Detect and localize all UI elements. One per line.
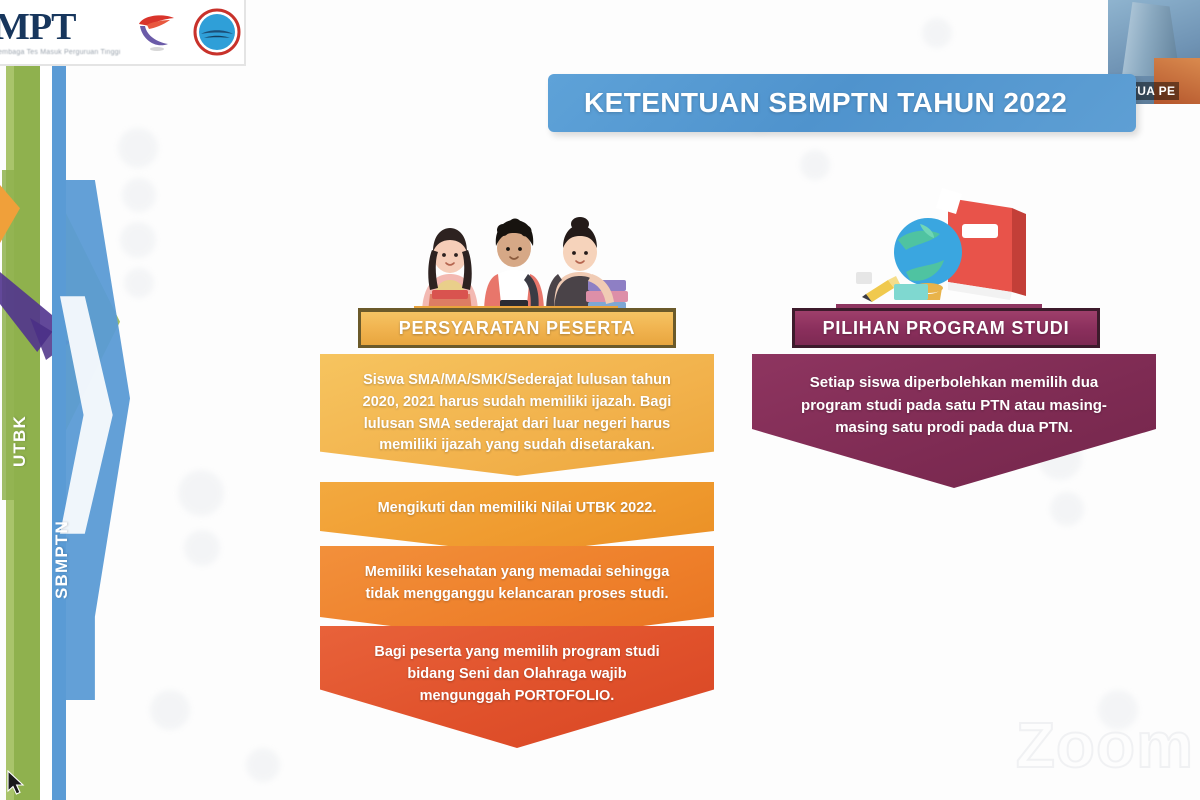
requirement-block-4: Bagi peserta yang memilih program studi … [320, 626, 714, 748]
background-watermark-blob [184, 530, 220, 566]
books-globe-illustration [836, 180, 1042, 316]
requirement-block-1: Siswa SMA/MA/SMK/Sederajat lulusan tahun… [320, 354, 714, 476]
requirement-block-2-text: Mengikuti dan memiliki Nilai UTBK 2022. [320, 482, 714, 520]
section-header-label: PERSYARATAN PESERTA [399, 318, 636, 339]
ltmpt-logo-text: MPT [0, 8, 121, 46]
background-watermark-blob [178, 470, 224, 516]
background-watermark-blob [1050, 492, 1084, 526]
requirement-block-2: Mengikuti dan memiliki Nilai UTBK 2022. [320, 482, 714, 554]
requirement-block-4-text: Bagi peserta yang memilih program studi … [320, 626, 714, 707]
page-title: KETENTUAN SBMPTN TAHUN 2022 [584, 87, 1067, 119]
students-illustration [392, 162, 636, 314]
background-watermark-blob [1098, 690, 1138, 730]
requirement-block-1-text: Siswa SMA/MA/SMK/Sederajat lulusan tahun… [320, 354, 714, 457]
left-decorative-rail: UTBK SBMPTN [0, 0, 130, 800]
slide-title-bar: KETENTUAN SBMPTN TAHUN 2022 [548, 74, 1136, 132]
section-header-persyaratan-peserta: PERSYARATAN PESERTA [358, 308, 676, 348]
mouse-cursor-icon [6, 770, 28, 796]
slide-canvas: UTBK SBMPTN MPT Lembaga Tes Masuk Pergur… [0, 0, 1200, 800]
zoom-watermark: Zoom [1016, 708, 1194, 782]
program-choice-block-1-text: Setiap siswa diperbolehkan memilih dua p… [752, 354, 1156, 440]
program-choice-block-1: Setiap siswa diperbolehkan memilih dua p… [752, 354, 1156, 488]
rail-white-gap [40, 0, 52, 800]
background-watermark-blob [800, 150, 830, 180]
background-watermark-blob [922, 18, 952, 48]
ltmpt-wordmark: MPT Lembaga Tes Masuk Perguruan Tinggi [0, 8, 121, 56]
requirement-block-3-text: Memiliki kesehatan yang memadai sehingga… [320, 546, 714, 606]
ltmpt-logo-subtitle: Lembaga Tes Masuk Perguruan Tinggi [0, 49, 121, 56]
section-header-label: PILIHAN PROGRAM STUDI [823, 318, 1070, 339]
kemdikbud-emblem-icon [193, 8, 241, 56]
background-watermark-blob [246, 748, 280, 782]
section-header-pilihan-program-studi: PILIHAN PROGRAM STUDI [792, 308, 1100, 348]
ltmpt-logo-strip: MPT Lembaga Tes Masuk Perguruan Tinggi [0, 0, 246, 66]
rail-label-sbmptn: SBMPTN [52, 520, 72, 599]
ltmpt-emblem-icon [133, 8, 181, 56]
rail-label-utbk: UTBK [10, 415, 30, 467]
background-watermark-blob [150, 690, 190, 730]
